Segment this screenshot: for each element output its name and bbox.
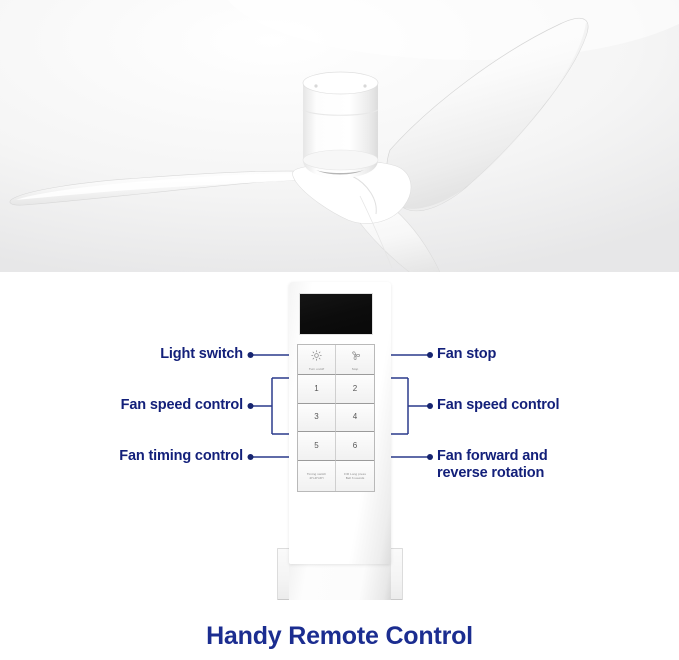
callout-label: Fan stop <box>437 346 496 362</box>
callout-label: Fan speed control <box>121 397 243 413</box>
remote-key-label: 4 <box>353 413 357 421</box>
remote-lcd-screen <box>299 293 373 335</box>
callout-label: Light switch <box>160 346 243 362</box>
callout-fan-stop: Fan stop <box>437 346 496 363</box>
remote-lower-body <box>289 560 391 600</box>
remote-key-label: 5 <box>314 442 318 450</box>
remote-control-body: Turn on/off Stop 1 2 <box>289 282 391 564</box>
remote-key-speed-1[interactable]: 1 <box>298 375 336 404</box>
remote-key-speed-5[interactable]: 5 <box>298 432 336 461</box>
remote-key-label: Stop <box>352 367 359 371</box>
fan-product-photo <box>0 0 679 272</box>
remote-key-speed-6[interactable]: 6 <box>336 432 374 461</box>
callout-label: Fan forward and reverse rotation <box>437 448 548 481</box>
ceiling-fan-illustration <box>0 0 679 272</box>
callout-label: Fan speed control <box>437 397 559 413</box>
callout-fan-speed-control-left: Fan speed control <box>0 397 243 414</box>
remote-key-forward-reverse[interactable]: F/R Long press Bell 3 sounds <box>336 461 374 491</box>
callout-light-switch: Light switch <box>0 346 243 363</box>
callout-fan-speed-control-right: Fan speed control <box>437 397 559 414</box>
page-title: Handy Remote Control <box>206 622 473 651</box>
remote-key-label: 1 <box>314 385 318 393</box>
remote-key-light[interactable]: Turn on/off <box>298 345 336 375</box>
sun-icon <box>311 348 322 366</box>
callout-fan-forward-reverse: Fan forward and reverse rotation <box>437 448 567 482</box>
fan-icon <box>350 348 361 366</box>
remote-diagram: Turn on/off Stop 1 2 <box>0 272 679 612</box>
remote-key-speed-4[interactable]: 4 <box>336 404 374 433</box>
product-title-bar: Handy Remote Control <box>0 612 679 660</box>
callout-label: Fan timing control <box>119 448 243 464</box>
remote-key-sublabel: Bell 3 sounds <box>346 476 365 480</box>
remote-key-sublabel: 2H-4H-6H <box>310 476 324 480</box>
callout-fan-timing-control: Fan timing control <box>0 448 243 465</box>
remote-key-label: 3 <box>314 413 318 421</box>
remote-key-label: Turn on/off <box>309 367 324 371</box>
remote-key-label: 2 <box>353 385 357 393</box>
remote-key-stop[interactable]: Stop <box>336 345 374 375</box>
remote-key-speed-3[interactable]: 3 <box>298 404 336 433</box>
remote-key-label: 6 <box>353 442 357 450</box>
remote-key-speed-2[interactable]: 2 <box>336 375 374 404</box>
remote-key-timer[interactable]: Timing switch 2H-4H-6H <box>298 461 336 491</box>
remote-keypad: Turn on/off Stop 1 2 <box>297 344 375 492</box>
